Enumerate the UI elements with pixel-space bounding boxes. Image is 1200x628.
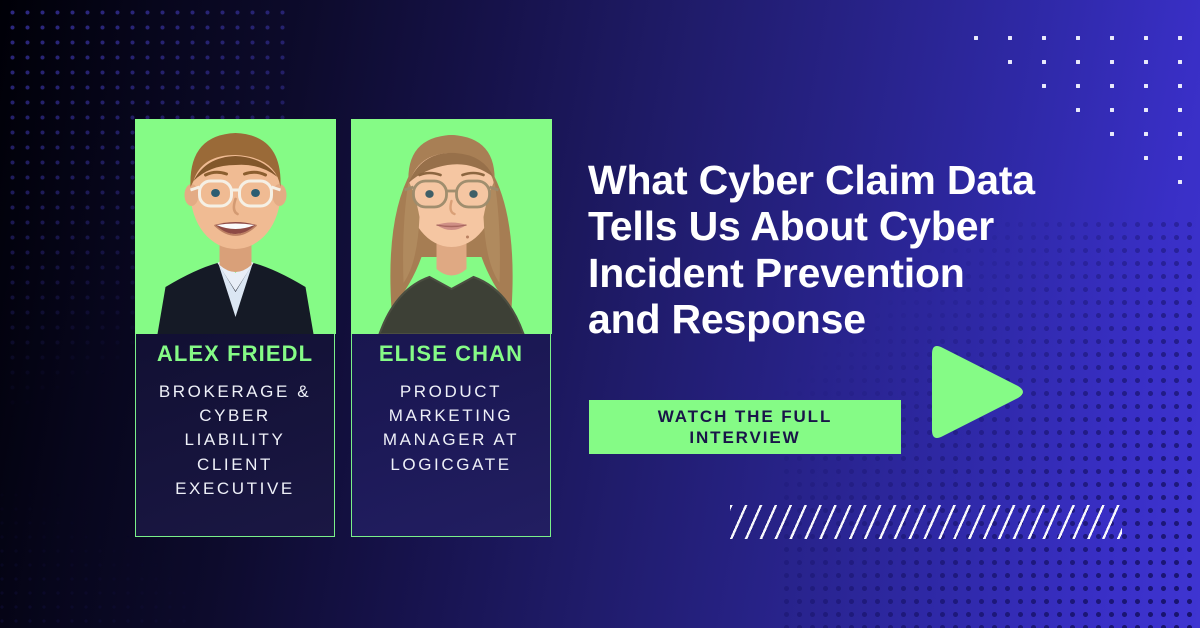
grid-dot-icon <box>1178 36 1182 40</box>
grid-dot-icon <box>1076 36 1080 40</box>
grid-dot-icon <box>1008 60 1012 64</box>
grid-dot-icon <box>1042 36 1046 40</box>
grid-dot-icon <box>1144 132 1148 136</box>
speaker-info-alex: ALEX FRIEDL BROKERAGE &CYBERLIABILITYCLI… <box>136 342 334 501</box>
diagonal-slash-pattern <box>730 505 1122 539</box>
page-title: What Cyber Claim DataTells Us About Cybe… <box>588 157 1118 342</box>
grid-dot-icon <box>1110 108 1114 112</box>
grid-dot-icon <box>1178 156 1182 160</box>
portrait-illustration-alex <box>135 77 336 334</box>
grid-dot-icon <box>1178 108 1182 112</box>
portrait-illustration-elise <box>351 77 552 334</box>
grid-dot-icon <box>1144 36 1148 40</box>
dot-row <box>944 122 1182 146</box>
dot-row <box>944 98 1182 122</box>
speaker-card-elise-chan: ELISE CHAN PRODUCTMARKETINGMANAGER ATLOG… <box>351 119 551 537</box>
watch-interview-button[interactable]: WATCH THE FULLINTERVIEW <box>589 400 901 454</box>
grid-dot-icon <box>1178 84 1182 88</box>
speaker-cards: ALEX FRIEDL BROKERAGE &CYBERLIABILITYCLI… <box>135 119 551 537</box>
grid-dot-icon <box>1178 60 1182 64</box>
dot-row <box>944 74 1182 98</box>
grid-dot-icon <box>1110 84 1114 88</box>
dot-row <box>944 26 1182 50</box>
grid-dot-icon <box>1042 60 1046 64</box>
grid-dot-icon <box>1076 84 1080 88</box>
headshot-elise-chan <box>351 119 552 334</box>
grid-dot-icon <box>974 36 978 40</box>
play-button[interactable] <box>918 336 1028 448</box>
grid-dot-icon <box>1178 132 1182 136</box>
speaker-role: BROKERAGE &CYBERLIABILITYCLIENTEXECUTIVE <box>146 380 324 501</box>
grid-dot-icon <box>1110 36 1114 40</box>
grid-dot-icon <box>1076 108 1080 112</box>
watch-interview-button-label: WATCH THE FULLINTERVIEW <box>658 406 833 449</box>
dot-row <box>944 50 1182 74</box>
headshot-alex-friedl <box>135 119 336 334</box>
speaker-card-alex-friedl: ALEX FRIEDL BROKERAGE &CYBERLIABILITYCLI… <box>135 119 335 537</box>
speaker-role: PRODUCTMARKETINGMANAGER ATLOGICGATE <box>362 380 540 477</box>
grid-dot-icon <box>1042 84 1046 88</box>
grid-dot-icon <box>1008 36 1012 40</box>
grid-dot-icon <box>1144 84 1148 88</box>
grid-dot-icon <box>1110 132 1114 136</box>
grid-dot-icon <box>1144 108 1148 112</box>
speaker-info-elise: ELISE CHAN PRODUCTMARKETINGMANAGER ATLOG… <box>352 342 550 477</box>
speaker-name: ALEX FRIEDL <box>146 342 324 366</box>
grid-dot-icon <box>1178 180 1182 184</box>
grid-dot-icon <box>1144 156 1148 160</box>
speaker-name: ELISE CHAN <box>362 342 540 366</box>
promo-canvas: ALEX FRIEDL BROKERAGE &CYBERLIABILITYCLI… <box>0 0 1200 628</box>
grid-dot-icon <box>1076 60 1080 64</box>
play-triangle-icon <box>918 336 1028 448</box>
grid-dot-icon <box>1110 60 1114 64</box>
grid-dot-icon <box>1144 60 1148 64</box>
